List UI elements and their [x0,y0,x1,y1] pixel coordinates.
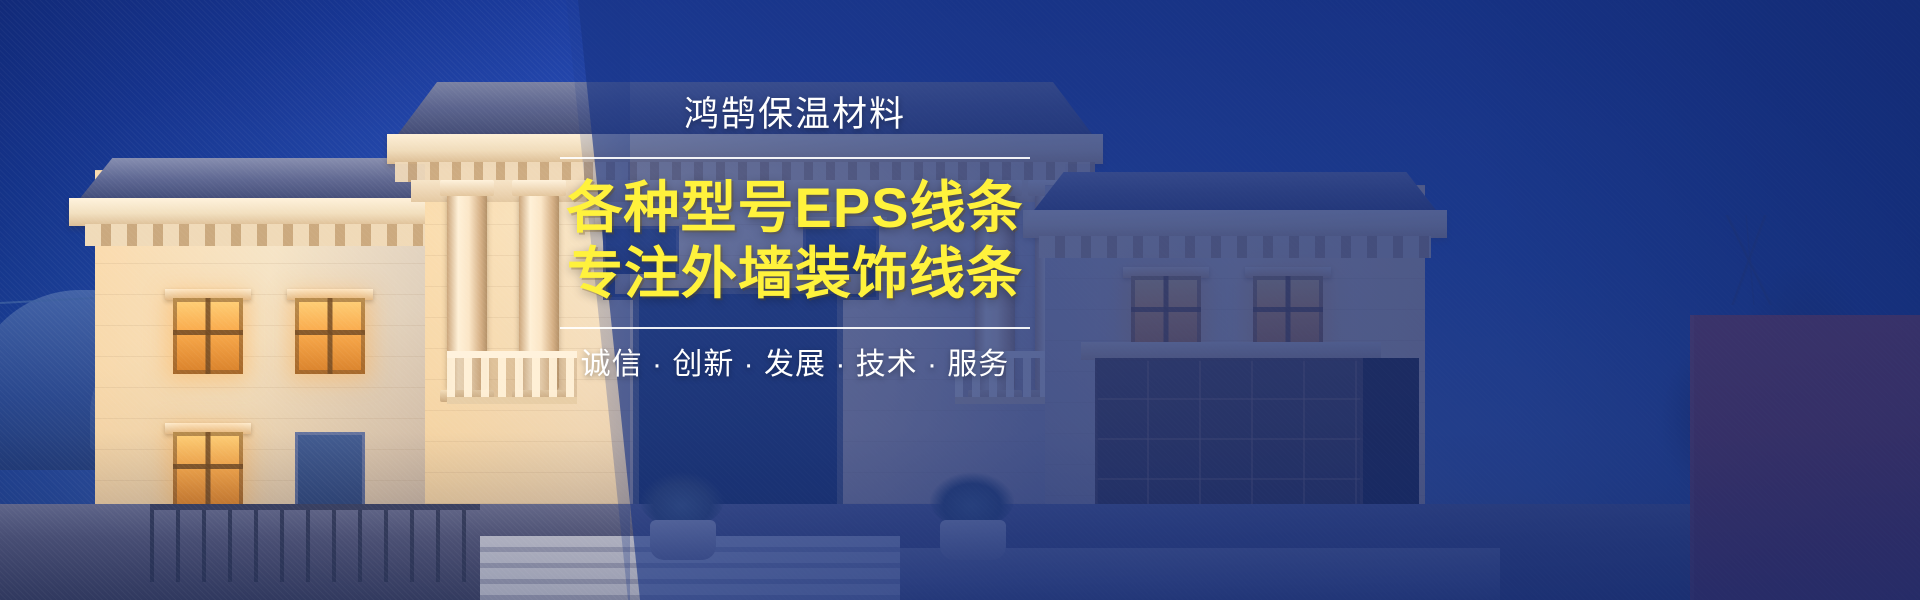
company-name: 鸿鹄保温材料 [560,96,1030,135]
bare-branch [1690,215,1810,305]
headline-line-2: 专注外墙装饰线条 [560,241,1030,307]
window-mullion-horizontal [1131,307,1201,312]
glowing-window [173,298,243,374]
garden-railing [150,504,480,582]
glowing-window [173,432,243,508]
window-mullion-vertical [328,298,333,374]
right-wing-brackets [1039,236,1431,258]
red-wall [1690,315,1920,600]
window-mullion-horizontal [173,464,243,469]
window-mullion-horizontal [295,330,365,335]
left-wing-cornice [69,198,477,226]
window-mullion-vertical [206,298,211,374]
promo-banner: 鸿鹄保温材料 各种型号EPS线条 专注外墙装饰线条 诚信 · 创新 · 发展 ·… [0,0,1920,600]
window-mullion-vertical [206,432,211,508]
divider-bottom [560,327,1030,329]
divider-top [560,157,1030,159]
left-wing-brackets [85,224,465,246]
right-wing-roof [1031,172,1439,214]
right-wing-cornice [1023,210,1447,238]
balustrade [447,351,577,404]
dark-window [295,432,365,508]
window-mullion-vertical [1286,276,1291,350]
glowing-window [1253,276,1323,350]
headline-block: 各种型号EPS线条 专注外墙装饰线条 [560,175,1030,307]
glowing-window [1131,276,1201,350]
slogan: 诚信 · 创新 · 发展 · 技术 · 服务 [560,347,1030,383]
planter [650,520,716,560]
headline-line-1: 各种型号EPS线条 [560,175,1030,241]
window-mullion-horizontal [173,330,243,335]
planter [940,520,1006,560]
window-mullion-vertical [1164,276,1169,350]
window-mullion-horizontal [1253,307,1323,312]
banner-content: 鸿鹄保温材料 各种型号EPS线条 专注外墙装饰线条 诚信 · 创新 · 发展 ·… [560,96,1030,383]
glowing-window [295,298,365,374]
